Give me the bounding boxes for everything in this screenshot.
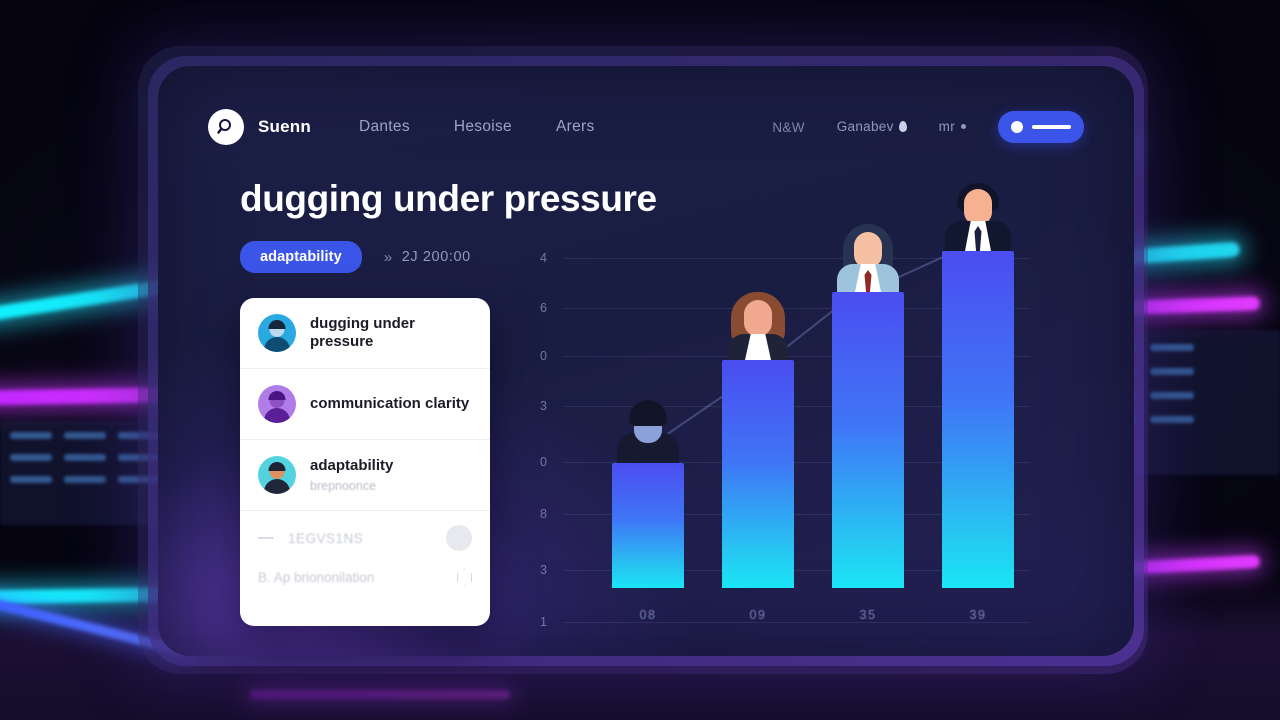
list-item-label: communication clarity [310, 395, 469, 413]
meta-timestamp: » 2J 200:00 [384, 249, 471, 266]
brand-name: Suenn [258, 117, 311, 137]
nav-links: Dantes Hesoise Arers [359, 118, 595, 136]
brand[interactable]: Suenn [208, 109, 311, 145]
nav-link-ganabev-group[interactable]: Ganabev [837, 118, 907, 136]
navbar: Suenn Dantes Hesoise Arers N&W Ganabev m… [158, 96, 1134, 158]
x-axis-tick: 09 [750, 608, 767, 622]
list-item[interactable]: adaptability brepnoonce [240, 440, 490, 511]
skills-list-card: dugging under pressure communication cla… [240, 298, 490, 626]
hexagon-icon [457, 569, 472, 586]
bar[interactable] [942, 251, 1014, 588]
avatar [258, 314, 296, 352]
placeholder-avatar [446, 525, 472, 551]
x-axis-tick: 08 [640, 608, 657, 622]
x-axis-tick: 35 [860, 608, 877, 622]
placeholder-row-1[interactable]: 1EGVS1NS [240, 511, 490, 565]
page-title: dugging under pressure [240, 178, 657, 220]
bar[interactable] [832, 292, 904, 588]
person-figure-1 [612, 391, 684, 463]
neon-strip-magenta-bottom [250, 690, 510, 699]
bar-chart: 4 6 0 3 0 8 3 1 [530, 240, 1030, 640]
placeholder-row-1-label: 1EGVS1NS [288, 531, 363, 546]
status-badge[interactable]: adaptability [240, 241, 362, 273]
avatar [258, 385, 296, 423]
person-figure-3 [832, 220, 904, 292]
nav-link-mr-group[interactable]: mr [939, 118, 966, 136]
bar[interactable] [612, 463, 684, 588]
placeholder-row-2-label: B. Ap briononilation [258, 570, 374, 585]
list-item-text-group: adaptability brepnoonce [310, 457, 393, 492]
location-pin-icon [899, 121, 907, 132]
cta-dot-icon [1011, 121, 1023, 133]
y-axis-tick: 0 [540, 455, 548, 469]
y-axis-tick: 0 [540, 349, 548, 363]
nav-link-now[interactable]: N&W [772, 120, 804, 135]
y-axis-tick: 3 [540, 563, 548, 577]
y-axis-tick: 8 [540, 507, 548, 521]
list-item-sublabel: brepnoonce [310, 479, 393, 493]
nav-right-group: N&W Ganabev mr [772, 111, 1084, 143]
avatar [258, 456, 296, 494]
dash-icon [258, 537, 274, 539]
search-icon [208, 109, 244, 145]
person-figure-2 [722, 288, 794, 360]
plot-area [574, 240, 1024, 588]
list-item[interactable]: communication clarity [240, 369, 490, 440]
y-axis-tick: 6 [540, 301, 548, 315]
bar[interactable] [722, 360, 794, 588]
cta-label-bar [1032, 125, 1071, 129]
meta-row: adaptability » 2J 200:00 [240, 241, 471, 273]
nav-link-arers[interactable]: Arers [556, 118, 595, 136]
nav-link-hesoise[interactable]: Hesoise [454, 118, 512, 136]
x-axis-tick: 39 [970, 608, 987, 622]
y-axis-tick: 1 [540, 615, 548, 629]
double-chevron-icon: » [384, 249, 393, 266]
y-axis-tick: 4 [540, 251, 548, 265]
list-item-label: dugging under pressure [310, 315, 472, 352]
list-item[interactable]: dugging under pressure [240, 298, 490, 369]
bullet-dot-icon [961, 124, 966, 129]
person-figure-4 [942, 179, 1014, 251]
nav-link-dantes[interactable]: Dantes [359, 118, 410, 136]
list-item-label: adaptability [310, 457, 393, 475]
primary-cta-button[interactable] [998, 111, 1084, 143]
placeholder-row-2[interactable]: B. Ap briononilation [240, 565, 490, 602]
y-axis-tick: 3 [540, 399, 548, 413]
meta-timestamp-value: 2J 200:00 [402, 249, 471, 265]
